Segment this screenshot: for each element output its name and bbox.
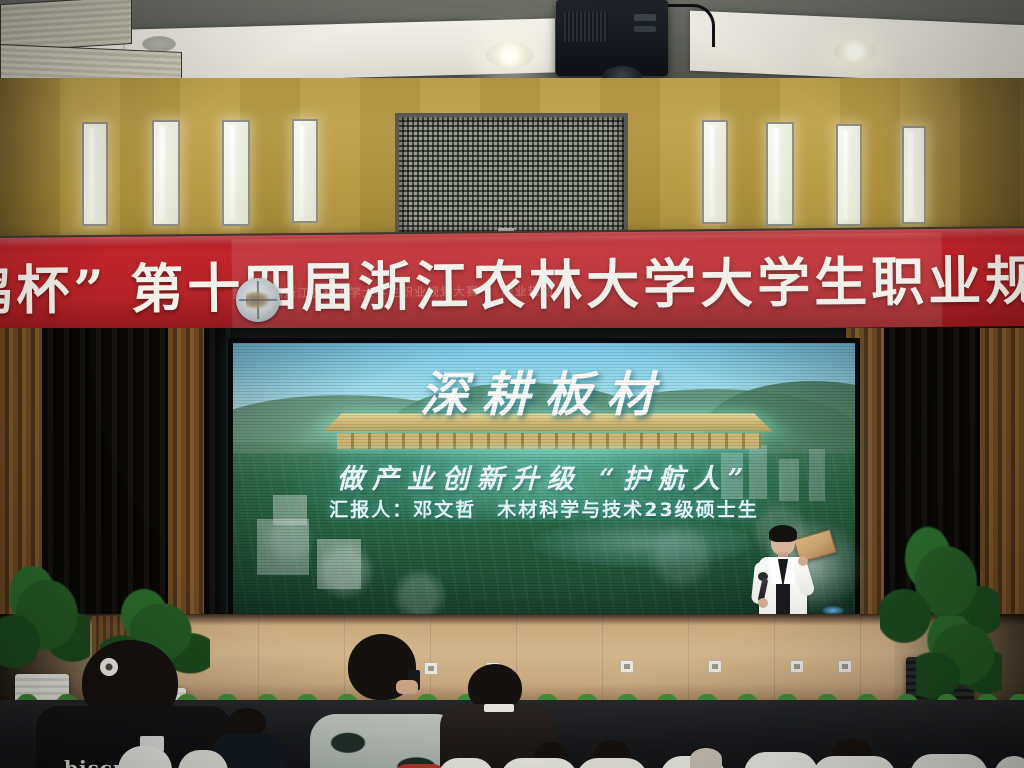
wall-light-slot: [152, 120, 180, 226]
audience-body: [812, 756, 896, 768]
audience-body: [910, 754, 988, 768]
acoustic-grille-panel: [395, 113, 628, 239]
auditorium-scene: “展鸿杯” 第十四届浙江农林大学大学生职业规划大 第十四届浙江农林大学大学生职业…: [0, 0, 1024, 768]
audience-head: [690, 748, 722, 768]
presenter-hand: [758, 598, 768, 608]
presenter-hand: [798, 556, 808, 566]
university-emblem-icon: [236, 278, 280, 322]
slide-ellipse-glow: [533, 519, 753, 567]
audience-body: [178, 750, 228, 768]
emblem-mark: [246, 291, 270, 309]
wall-light-slot: [902, 126, 926, 224]
ceiling-projector: [556, 0, 668, 76]
wall-light-slot: [836, 124, 862, 226]
slide-building: [257, 519, 309, 575]
projector-vent: [564, 12, 608, 42]
wood-slat-panel: [168, 328, 204, 628]
projector-port: [634, 26, 656, 32]
wall-light-slot: [292, 119, 318, 223]
slide-title: 深耕板材: [233, 355, 855, 425]
audience-body: [438, 758, 494, 768]
audience-body: [744, 752, 818, 768]
slide-presenter-line: 汇报人：邓文哲 木材科学与技术23级硕士生: [233, 495, 855, 522]
audience-body: [118, 746, 172, 768]
audience-body: [994, 756, 1024, 768]
audience-front-row: [0, 742, 1024, 768]
projector-port: [634, 14, 656, 21]
slide-building: [317, 539, 361, 589]
ceiling-downlight-icon: [142, 36, 176, 52]
ceiling-downlight-icon: [486, 42, 534, 68]
banner-overlay-subtext: 第十四届浙江农林大学大学生职业规划大赛 ｜ 职业规划: [232, 281, 632, 305]
wall-light-slot: [82, 122, 108, 226]
slide-subtitle: 做产业创新升级 “护航人”: [233, 457, 855, 496]
wall-light-slot: [702, 120, 728, 224]
hair-clip-icon: [100, 658, 118, 676]
presenter-hair: [769, 525, 797, 542]
projector-cable: [660, 4, 715, 47]
audience-collar: [484, 704, 514, 712]
audience: biscuit: [0, 624, 1024, 768]
wall-light-slot: [222, 120, 250, 226]
wall-light-slot: [766, 122, 794, 226]
audience-body: [576, 758, 648, 768]
ceiling-downlight-icon: [833, 40, 877, 62]
